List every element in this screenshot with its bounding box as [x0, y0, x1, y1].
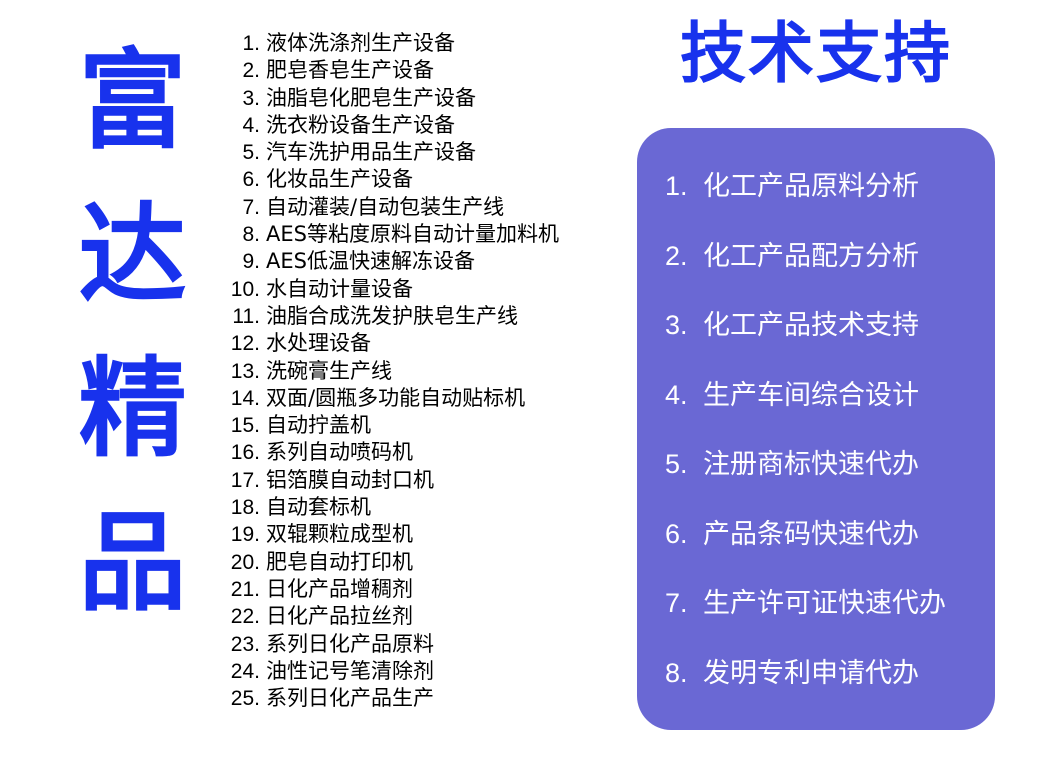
support-item-label: 注册商标快速代办	[703, 442, 919, 481]
list-item-number: 10.	[222, 278, 260, 302]
support-heading: 技术支持	[637, 17, 995, 91]
list-item: 23. 系列日化产品原料	[222, 628, 622, 655]
list-item-number: 16.	[222, 441, 260, 465]
support-item-number: 3.	[665, 310, 693, 341]
support-item-number: 1.	[665, 171, 693, 202]
list-item-label: 水处理设备	[266, 327, 371, 357]
list-item: 12. 水处理设备	[222, 327, 622, 354]
list-item-label: 双辊颗粒成型机	[266, 518, 413, 548]
list-item-number: 25.	[222, 687, 260, 711]
support-item: 1. 化工产品原料分析	[637, 164, 995, 234]
brand-char-3: 精	[78, 356, 186, 464]
list-item: 4. 洗衣粉设备生产设备	[222, 109, 622, 136]
list-item-number: 13.	[222, 360, 260, 384]
list-item: 21. 日化产品增稠剂	[222, 573, 622, 600]
brand-char-4: 品	[78, 510, 186, 618]
list-item-number: 18.	[222, 496, 260, 520]
list-item-number: 9.	[222, 250, 260, 274]
list-item-label: 肥皂香皂生产设备	[266, 54, 434, 84]
support-item-number: 7.	[665, 588, 693, 619]
list-item-number: 24.	[222, 660, 260, 684]
support-item-number: 6.	[665, 519, 693, 550]
support-item: 6. 产品条码快速代办	[637, 512, 995, 582]
list-item-number: 21.	[222, 578, 260, 602]
list-item: 18. 自动套标机	[222, 491, 622, 518]
list-item-label: 日化产品拉丝剂	[266, 600, 413, 630]
support-item-label: 化工产品技术支持	[703, 303, 919, 342]
list-item-number: 11.	[222, 305, 260, 329]
list-item-label: 油脂皂化肥皂生产设备	[266, 82, 476, 112]
list-item-label: 系列日化产品生产	[266, 682, 434, 712]
list-item: 5. 汽车洗护用品生产设备	[222, 136, 622, 163]
list-item: 6. 化妆品生产设备	[222, 163, 622, 190]
list-item-label: 自动拧盖机	[266, 409, 371, 439]
list-item-number: 2.	[222, 59, 260, 83]
brand-char-2: 达	[78, 202, 186, 310]
list-item-label: 化妆品生产设备	[266, 163, 413, 193]
list-item-label: 汽车洗护用品生产设备	[266, 136, 476, 166]
support-item: 7. 生产许可证快速代办	[637, 581, 995, 651]
support-item-label: 化工产品原料分析	[703, 164, 919, 203]
list-item: 24. 油性记号笔清除剂	[222, 655, 622, 682]
list-item-label: 系列自动喷码机	[266, 436, 413, 466]
support-item: 2. 化工产品配方分析	[637, 234, 995, 304]
support-item-label: 产品条码快速代办	[703, 512, 919, 551]
list-item: 13. 洗碗膏生产线	[222, 355, 622, 382]
list-item-label: 自动灌装/自动包装生产线	[266, 191, 504, 221]
list-item: 8. AES等粘度原料自动计量加料机	[222, 218, 622, 245]
support-item-number: 4.	[665, 380, 693, 411]
support-item: 5. 注册商标快速代办	[637, 442, 995, 512]
list-item-number: 4.	[222, 114, 260, 138]
list-item-number: 14.	[222, 387, 260, 411]
list-item-label: 油脂合成洗发护肤皂生产线	[266, 300, 518, 330]
list-item-label: 水自动计量设备	[266, 273, 413, 303]
support-item: 4. 生产车间综合设计	[637, 373, 995, 443]
list-item-number: 12.	[222, 332, 260, 356]
list-item-label: 自动套标机	[266, 491, 371, 521]
support-panel: 1. 化工产品原料分析 2. 化工产品配方分析 3. 化工产品技术支持 4. 生…	[637, 128, 995, 730]
brand-char-1: 富	[78, 48, 186, 156]
list-item: 15. 自动拧盖机	[222, 409, 622, 436]
list-item-number: 22.	[222, 605, 260, 629]
list-item: 19. 双辊颗粒成型机	[222, 518, 622, 545]
list-item: 17. 铝箔膜自动封口机	[222, 464, 622, 491]
list-item-label: 洗碗膏生产线	[266, 355, 392, 385]
list-item: 22. 日化产品拉丝剂	[222, 600, 622, 627]
list-item: 7. 自动灌装/自动包装生产线	[222, 191, 622, 218]
list-item: 11. 油脂合成洗发护肤皂生产线	[222, 300, 622, 327]
list-item-number: 20.	[222, 551, 260, 575]
list-item: 20. 肥皂自动打印机	[222, 546, 622, 573]
list-item-label: 铝箔膜自动封口机	[266, 464, 434, 494]
list-item-number: 17.	[222, 469, 260, 493]
support-item-number: 5.	[665, 449, 693, 480]
list-item: 25. 系列日化产品生产	[222, 682, 622, 709]
list-item-number: 19.	[222, 523, 260, 547]
list-item: 1. 液体洗涤剂生产设备	[222, 27, 622, 54]
list-item-label: 洗衣粉设备生产设备	[266, 109, 455, 139]
list-item-number: 1.	[222, 32, 260, 56]
support-item: 3. 化工产品技术支持	[637, 303, 995, 373]
list-item-number: 5.	[222, 141, 260, 165]
list-item-label: AES低温快速解冻设备	[266, 245, 475, 275]
support-item: 8. 发明专利申请代办	[637, 651, 995, 721]
list-item-number: 8.	[222, 223, 260, 247]
list-item-number: 15.	[222, 414, 260, 438]
support-item-number: 2.	[665, 241, 693, 272]
list-item-label: 系列日化产品原料	[266, 628, 434, 658]
support-item-label: 生产车间综合设计	[703, 373, 919, 412]
list-item-number: 23.	[222, 633, 260, 657]
list-item: 2. 肥皂香皂生产设备	[222, 54, 622, 81]
list-item-number: 7.	[222, 196, 260, 220]
list-item: 10. 水自动计量设备	[222, 273, 622, 300]
list-item-number: 6.	[222, 168, 260, 192]
list-item-label: 肥皂自动打印机	[266, 546, 413, 576]
list-item: 3. 油脂皂化肥皂生产设备	[222, 82, 622, 109]
support-item-label: 发明专利申请代办	[703, 651, 919, 690]
list-item-label: AES等粘度原料自动计量加料机	[266, 218, 559, 248]
list-item-label: 日化产品增稠剂	[266, 573, 413, 603]
list-item-label: 油性记号笔清除剂	[266, 655, 434, 685]
list-item-label: 双面/圆瓶多功能自动贴标机	[266, 382, 525, 412]
support-item-label: 化工产品配方分析	[703, 234, 919, 273]
brand-vertical-title: 富 达 精 品	[70, 48, 195, 618]
list-item: 14. 双面/圆瓶多功能自动贴标机	[222, 382, 622, 409]
list-item-number: 3.	[222, 87, 260, 111]
support-item-number: 8.	[665, 658, 693, 689]
product-list: 1. 液体洗涤剂生产设备 2. 肥皂香皂生产设备 3. 油脂皂化肥皂生产设备 4…	[222, 27, 622, 709]
list-item: 16. 系列自动喷码机	[222, 436, 622, 463]
list-item-label: 液体洗涤剂生产设备	[266, 27, 455, 57]
support-item-label: 生产许可证快速代办	[703, 581, 946, 620]
list-item: 9. AES低温快速解冻设备	[222, 245, 622, 272]
